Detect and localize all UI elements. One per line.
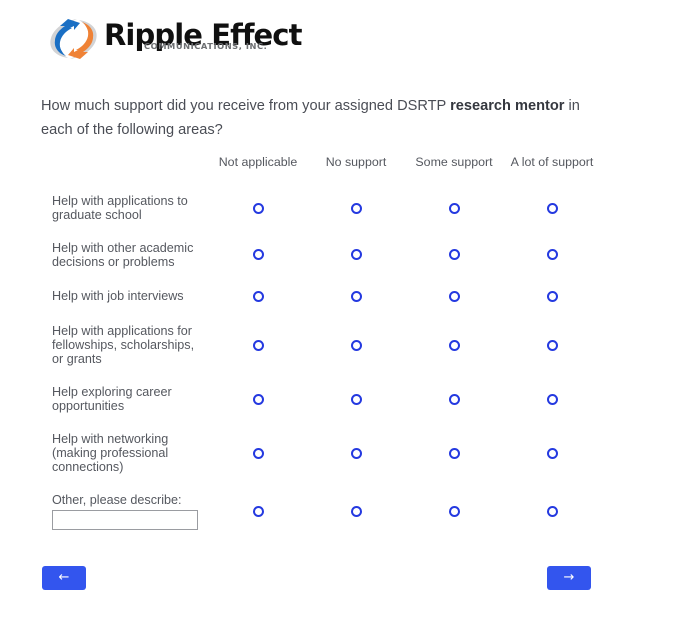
radio-button-icon[interactable] (253, 291, 264, 302)
radio-cell-r1c2[interactable] (307, 185, 405, 232)
next-page-button[interactable]: → (547, 566, 591, 590)
radio-button-icon[interactable] (449, 448, 460, 459)
radio-button-icon[interactable] (253, 506, 264, 517)
radio-button-icon[interactable] (449, 340, 460, 351)
radio-button-icon[interactable] (547, 249, 558, 260)
row-label-academic-decisions: Help with other academic decisions or pr… (41, 232, 209, 279)
radio-cell-r3c4[interactable] (503, 279, 601, 315)
table-row: Help with job interviews (41, 279, 601, 315)
matrix-header-row: Not applicable No support Some support A… (41, 155, 601, 185)
table-row: Help with applications to graduate schoo… (41, 185, 601, 232)
radio-button-icon[interactable] (253, 448, 264, 459)
radio-button-icon[interactable] (449, 203, 460, 214)
table-row: Help exploring career opportunities (41, 376, 601, 423)
radio-cell-r6c2[interactable] (307, 423, 405, 484)
radio-cell-r3c3[interactable] (405, 279, 503, 315)
radio-button-icon[interactable] (351, 448, 362, 459)
radio-cell-r7c1[interactable] (209, 484, 307, 539)
radio-cell-r3c1[interactable] (209, 279, 307, 315)
radio-button-icon[interactable] (449, 506, 460, 517)
table-row: Help with applications for fellowships, … (41, 315, 601, 376)
question-emphasis: research mentor (450, 98, 564, 114)
radio-button-icon[interactable] (449, 291, 460, 302)
radio-cell-r5c4[interactable] (503, 376, 601, 423)
row-label-grad-school: Help with applications to graduate schoo… (41, 185, 209, 232)
brand-tagline: COMMUNICATIONS, INC. (144, 42, 267, 51)
radio-cell-r5c3[interactable] (405, 376, 503, 423)
ripple-swirl-logo-icon (46, 16, 102, 62)
radio-button-icon[interactable] (547, 448, 558, 459)
radio-cell-r5c1[interactable] (209, 376, 307, 423)
radio-cell-r5c2[interactable] (307, 376, 405, 423)
radio-cell-r1c4[interactable] (503, 185, 601, 232)
radio-cell-r2c3[interactable] (405, 232, 503, 279)
radio-button-icon[interactable] (547, 506, 558, 517)
question-prompt: How much support did you receive from yo… (41, 94, 597, 142)
question-text-part1: How much support did you receive from yo… (41, 98, 450, 114)
radio-cell-r1c1[interactable] (209, 185, 307, 232)
other-label-text: Other, please describe: (52, 493, 199, 507)
matrix-table: Not applicable No support Some support A… (41, 155, 601, 539)
radio-button-icon[interactable] (351, 394, 362, 405)
radio-cell-r3c2[interactable] (307, 279, 405, 315)
radio-button-icon[interactable] (253, 340, 264, 351)
radio-button-icon[interactable] (547, 340, 558, 351)
radio-cell-r2c1[interactable] (209, 232, 307, 279)
radio-button-icon[interactable] (253, 394, 264, 405)
radio-cell-r2c4[interactable] (503, 232, 601, 279)
radio-cell-r4c1[interactable] (209, 315, 307, 376)
radio-button-icon[interactable] (253, 249, 264, 260)
radio-button-icon[interactable] (351, 291, 362, 302)
matrix-body: Help with applications to graduate schoo… (41, 185, 601, 539)
row-label-job-interviews: Help with job interviews (41, 279, 209, 315)
radio-cell-r7c2[interactable] (307, 484, 405, 539)
radio-button-icon[interactable] (449, 394, 460, 405)
radio-cell-r6c1[interactable] (209, 423, 307, 484)
other-describe-input[interactable] (52, 510, 198, 530)
matrix-corner-cell (41, 155, 209, 185)
radio-button-icon[interactable] (351, 506, 362, 517)
radio-cell-r7c4[interactable] (503, 484, 601, 539)
column-header-some-support: Some support (405, 155, 503, 185)
row-label-networking: Help with networking (making professiona… (41, 423, 209, 484)
radio-cell-r4c2[interactable] (307, 315, 405, 376)
radio-cell-r4c3[interactable] (405, 315, 503, 376)
radio-cell-r6c3[interactable] (405, 423, 503, 484)
column-header-no-support: No support (307, 155, 405, 185)
support-matrix: Not applicable No support Some support A… (41, 155, 601, 539)
column-header-not-applicable: Not applicable (209, 155, 307, 185)
radio-cell-r7c3[interactable] (405, 484, 503, 539)
radio-cell-r2c2[interactable] (307, 232, 405, 279)
previous-page-button[interactable]: ← (42, 566, 86, 590)
radio-cell-r6c4[interactable] (503, 423, 601, 484)
radio-button-icon[interactable] (351, 249, 362, 260)
radio-button-icon[interactable] (351, 203, 362, 214)
radio-cell-r4c4[interactable] (503, 315, 601, 376)
radio-button-icon[interactable] (547, 394, 558, 405)
radio-button-icon[interactable] (449, 249, 460, 260)
row-label-fellowships: Help with applications for fellowships, … (41, 315, 209, 376)
radio-button-icon[interactable] (351, 340, 362, 351)
radio-cell-r1c3[interactable] (405, 185, 503, 232)
radio-button-icon[interactable] (253, 203, 264, 214)
table-row: Help with other academic decisions or pr… (41, 232, 601, 279)
column-header-a-lot-of-support: A lot of support (503, 155, 601, 185)
table-row: Help with networking (making professiona… (41, 423, 601, 484)
row-label-career-opportunities: Help exploring career opportunities (41, 376, 209, 423)
radio-button-icon[interactable] (547, 203, 558, 214)
row-label-other: Other, please describe: (41, 484, 209, 539)
radio-button-icon[interactable] (547, 291, 558, 302)
brand-logo: Ripple Effect COMMUNICATIONS, INC. (46, 16, 302, 64)
table-row: Other, please describe: (41, 484, 601, 539)
